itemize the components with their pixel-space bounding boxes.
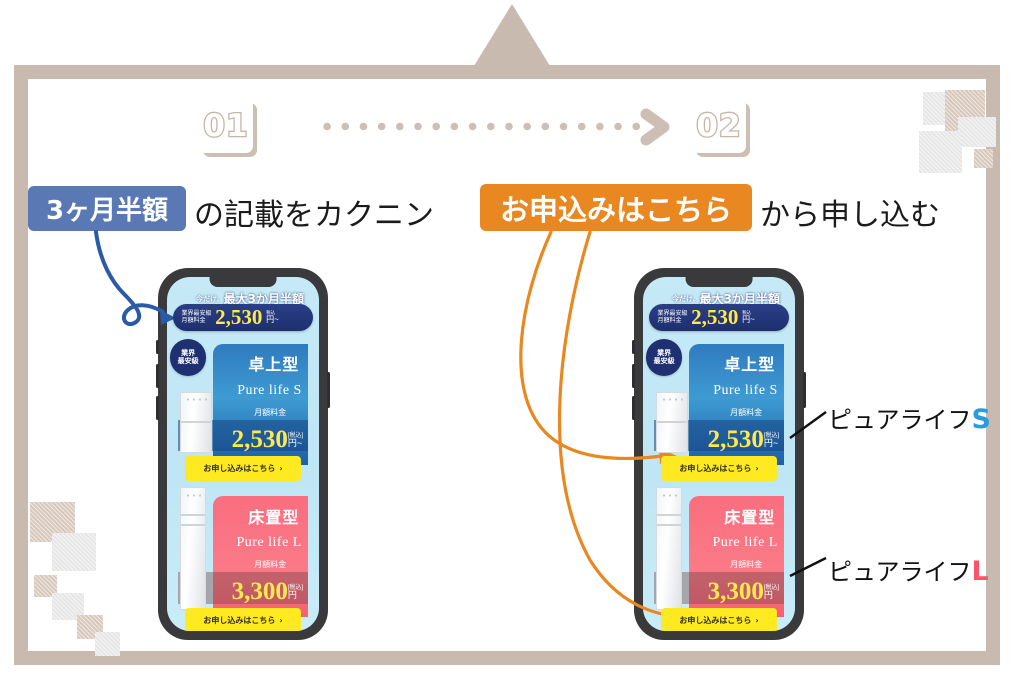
lowest-price-badge-s: 業界 最安級	[646, 339, 683, 376]
product-price-l: 3,300	[232, 580, 288, 604]
hero-fee-label: 月額料金	[181, 318, 211, 324]
lowest-price-badge-s: 業界 最安級	[170, 339, 207, 376]
product-unit-l: 円	[288, 591, 303, 600]
hero-unit: 円~	[266, 316, 279, 324]
product-type-l: 床置型	[724, 504, 775, 528]
callout-chip-1: 3ヶ月半額	[28, 186, 186, 231]
phone-mockup-step2: 今だけ、 最大3か月半額 業界最安級 月額料金 2,530 税込 円~	[634, 268, 804, 640]
hero-price: 2,530	[215, 305, 262, 330]
product-card-s: 卓上型 Pure life S 月額料金 2,530 [税込] 円~ 業界	[178, 344, 309, 464]
chevron-right-icon: ›	[755, 616, 758, 625]
chevron-right-icon: ›	[279, 464, 282, 473]
cta-button-l[interactable]: お申し込みはこちら ›	[185, 608, 301, 631]
product-price-s: 2,530	[232, 428, 288, 452]
product-fee-label-s: 月額料金	[730, 407, 762, 418]
product-card-l: 床置型 Pure life L 月額料金 3,300 [税込] 円	[178, 496, 309, 616]
product-unit-l: 円	[764, 591, 779, 600]
hero-price: 2,530	[691, 305, 738, 330]
product-image-l	[180, 487, 206, 610]
side-label-pure-life-s: ピュアライフS	[828, 400, 991, 435]
cta-label-l: お申し込みはこちら	[679, 615, 751, 626]
step-badge-01: 01	[199, 99, 253, 153]
deco-square	[95, 632, 120, 656]
side-label-mark: S	[972, 404, 991, 435]
product-unit-s: 円~	[764, 439, 779, 448]
product-fee-label-s: 月額料金	[254, 407, 286, 418]
frame-border-left	[14, 65, 28, 665]
chevron-right-icon: ›	[755, 464, 758, 473]
side-label-text: ピュアライフ	[828, 558, 972, 586]
side-label-text: ピュアライフ	[828, 406, 972, 434]
badge-line-2: 最安級	[170, 358, 207, 366]
arrow-blue-curve	[96, 232, 163, 324]
phone-screen: 今だけ、 最大3か月半額 業界最安級 月額料金 2,530 税込 円~	[643, 277, 795, 631]
chevron-right-icon: ›	[279, 616, 282, 625]
hero-fee-label: 月額料金	[657, 318, 687, 324]
phone-screen: 今だけ、 最大3か月半額 業界最安級 月額料金 2,530 税込 円~	[167, 277, 319, 631]
callout-text-1: の記載をカクニン	[194, 190, 434, 234]
product-price-l: 3,300	[708, 580, 764, 604]
badge-line-2: 最安級	[646, 358, 683, 366]
hero-banner: 今だけ、 最大3か月半額 業界最安級 月額料金 2,530 税込 円~	[173, 288, 313, 330]
cta-label-l: お申し込みはこちら	[203, 615, 275, 626]
deco-square	[958, 117, 996, 147]
product-fee-label-l: 月額料金	[254, 559, 286, 570]
product-price-s: 2,530	[708, 428, 764, 452]
cta-label-s: お申し込みはこちら	[679, 463, 751, 474]
frame-top-tab	[474, 4, 550, 66]
step-badge-01-label: 01	[203, 108, 248, 144]
product-card-l: 床置型 Pure life L 月額料金 3,300 [税込] 円	[654, 496, 785, 616]
product-name-s: Pure life S	[237, 383, 302, 399]
hero-banner: 今だけ、 最大3か月半額 業界最安級 月額料金 2,530 税込 円~	[649, 288, 789, 330]
frame-border-bottom	[14, 651, 1000, 665]
product-type-s: 卓上型	[248, 351, 299, 375]
step-badge-02: 02	[692, 99, 746, 153]
hero-rank: 業界最安級	[657, 311, 687, 317]
product-type-l: 床置型	[248, 504, 299, 528]
product-fee-label-l: 月額料金	[730, 559, 762, 570]
side-label-pure-life-l: ピュアライフL	[828, 552, 989, 587]
cta-button-s[interactable]: お申し込みはこちら ›	[185, 456, 301, 481]
product-image-l	[656, 487, 682, 610]
deco-square	[974, 149, 993, 168]
product-card-s: 卓上型 Pure life S 月額料金 2,530 [税込] 円~ 業界	[654, 344, 785, 464]
side-label-mark: L	[972, 556, 989, 587]
step-badge-02-label: 02	[696, 108, 741, 144]
cta-label-s: お申し込みはこちら	[203, 463, 275, 474]
deco-square	[919, 131, 962, 173]
hero-rank: 業界最安級	[181, 311, 211, 317]
product-name-l: Pure life L	[236, 535, 301, 551]
frame-border-top	[14, 65, 1000, 79]
infographic-canvas: 01 02 3ヶ月半額 の記載をカクニン お申込みはこちら から申し込む 今だけ…	[0, 0, 1024, 683]
cta-button-s[interactable]: お申し込みはこちら ›	[661, 456, 777, 481]
cta-button-l[interactable]: お申し込みはこちら ›	[661, 608, 777, 631]
hero-kicker: 今だけ、	[672, 294, 700, 304]
phone-mockup-step1: 今だけ、 最大3か月半額 業界最安級 月額料金 2,530 税込 円~	[158, 268, 328, 640]
product-name-s: Pure life S	[713, 383, 778, 399]
deco-square	[52, 533, 96, 571]
product-type-s: 卓上型	[724, 351, 775, 375]
callout-chip-2: お申込みはこちら	[480, 184, 752, 231]
hero-unit: 円~	[742, 316, 755, 324]
chevron-right-icon	[640, 108, 674, 146]
callout-text-2: から申し込む	[760, 190, 940, 234]
product-name-l: Pure life L	[712, 535, 777, 551]
product-unit-s: 円~	[288, 439, 303, 448]
product-image-s	[180, 392, 211, 452]
phone-notch	[686, 277, 753, 287]
step-connector-dots	[318, 121, 648, 132]
product-image-s	[656, 392, 687, 452]
hero-kicker: 今だけ、	[196, 294, 224, 304]
phone-notch	[210, 277, 277, 287]
